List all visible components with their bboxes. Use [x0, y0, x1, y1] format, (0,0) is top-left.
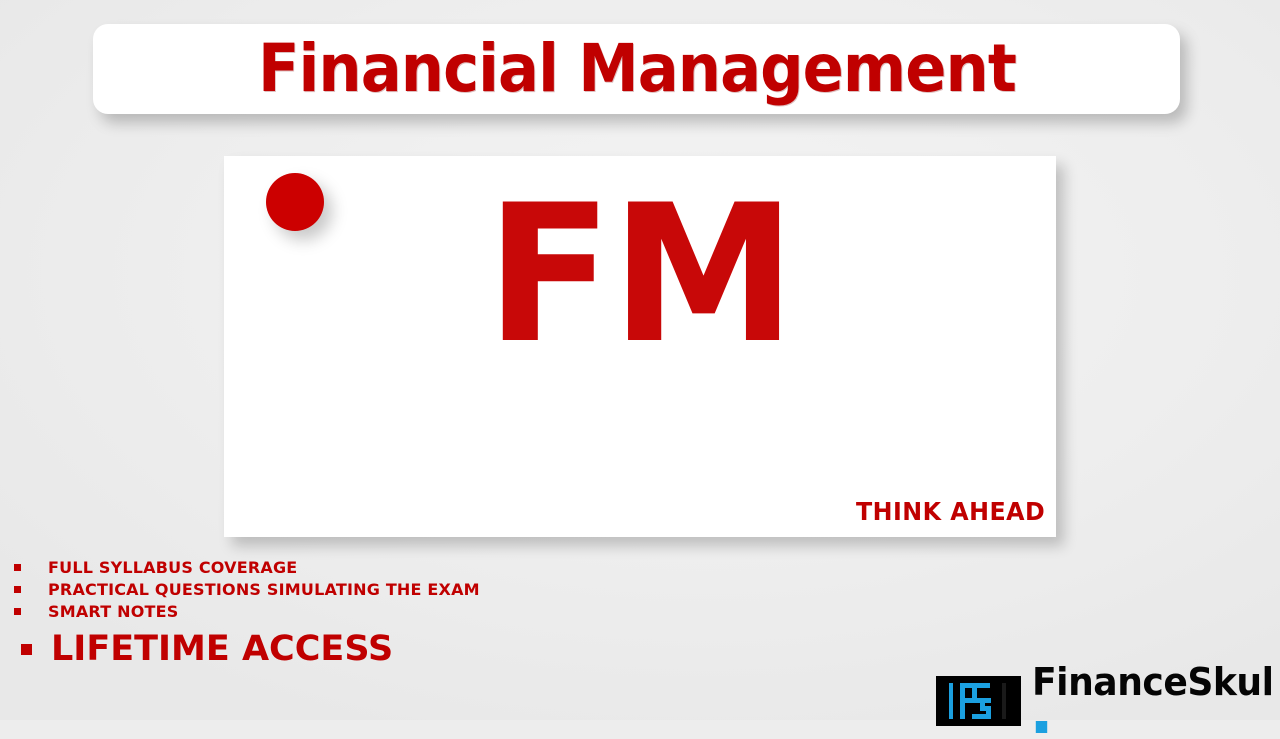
feature-list: FULL SYLLABUS COVERAGE PRACTICAL QUESTIO…: [10, 556, 650, 669]
bullet-square-icon: [14, 586, 21, 593]
course-code: FM: [232, 180, 1047, 370]
bullet-square-icon: [21, 644, 32, 655]
list-item: PRACTICAL QUESTIONS SIMULATING THE EXAM: [10, 578, 650, 600]
title-card: Financial Management: [93, 24, 1180, 114]
list-item: SMART NOTES: [10, 600, 650, 622]
feature-label: SMART NOTES: [48, 602, 178, 621]
brand-dot-icon: [1036, 721, 1047, 733]
feature-label: PRACTICAL QUESTIONS SIMULATING THE EXAM: [48, 580, 480, 599]
brand-logo: FinanceSkul: [936, 663, 1280, 739]
fs-monogram-icon: [936, 676, 1021, 726]
list-item: LIFETIME ACCESS: [10, 629, 650, 669]
bullet-square-icon: [14, 564, 21, 571]
list-item: FULL SYLLABUS COVERAGE: [10, 556, 650, 578]
course-card: FM THINK AHEAD: [224, 156, 1056, 537]
brand-name-text: FinanceSkul: [1032, 660, 1274, 704]
bullet-square-icon: [14, 608, 21, 615]
feature-label: FULL SYLLABUS COVERAGE: [48, 558, 297, 577]
slide-canvas: Financial Management FM THINK AHEAD FULL…: [0, 0, 1280, 720]
feature-label-highlight: LIFETIME ACCESS: [51, 629, 393, 669]
brand-name: FinanceSkul: [1032, 663, 1274, 739]
course-tagline: THINK AHEAD: [856, 497, 1045, 526]
page-title: Financial Management: [257, 36, 1015, 102]
